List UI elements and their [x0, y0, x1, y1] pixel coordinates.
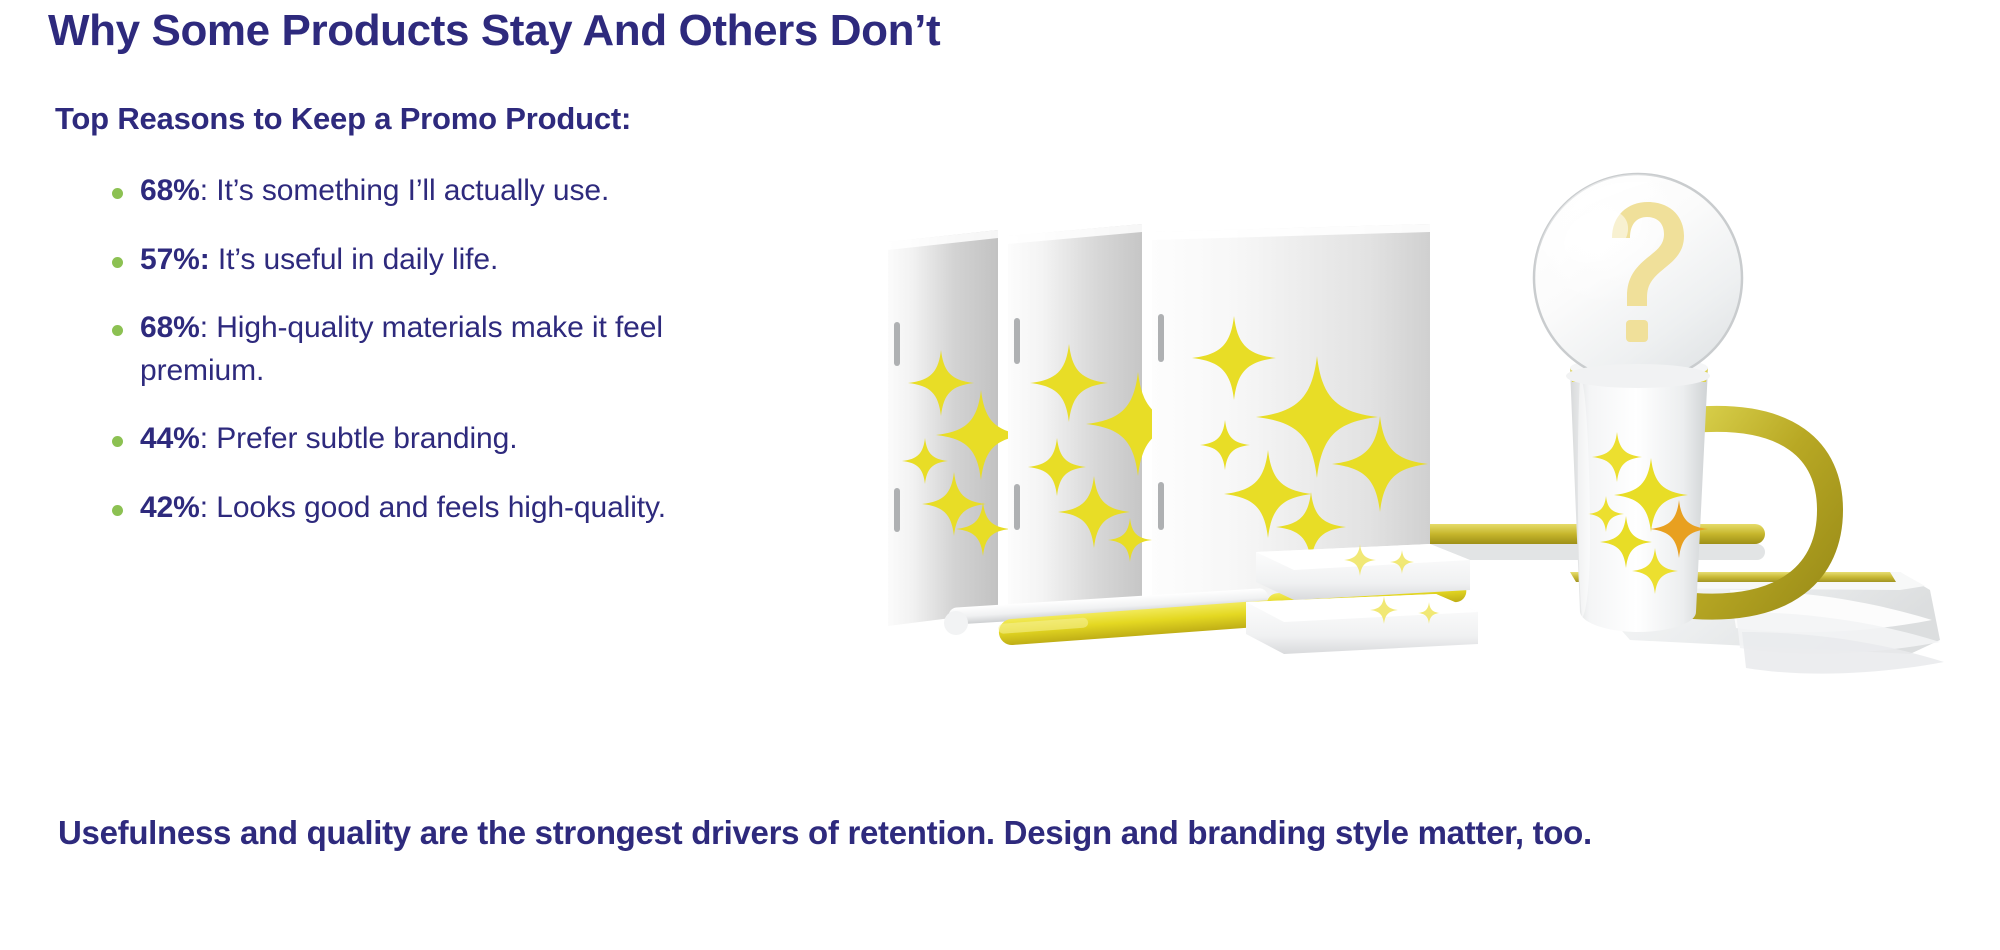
stat-percent: 44% — [140, 422, 200, 455]
stat-percent: 68% — [140, 174, 200, 207]
bullet-dot-icon — [112, 257, 123, 268]
stat-text: Looks good and feels high-quality. — [216, 491, 666, 524]
mug — [1570, 357, 1708, 632]
eraser-box-bottom — [1246, 594, 1478, 654]
stat-percent: 57%: — [140, 243, 210, 276]
stat-separator — [210, 243, 218, 276]
stat-text: Prefer subtle branding. — [216, 422, 517, 455]
list-item: 57%: It’s useful in daily life. — [108, 239, 708, 282]
section-subtitle: Top Reasons to Keep a Promo Product: — [55, 101, 631, 137]
glass-dome — [1534, 174, 1742, 388]
summary-text: Usefulness and quality are the strongest… — [58, 810, 1888, 857]
stat-text: It’s useful in daily life. — [218, 243, 498, 276]
bullet-dot-icon — [112, 188, 123, 199]
stat-percent: 42% — [140, 491, 200, 524]
bullet-dot-icon — [112, 325, 123, 336]
stat-separator: : — [200, 311, 216, 344]
list-item: 68%: High-quality materials make it feel… — [108, 307, 708, 392]
stat-text: It’s something I’ll actually use. — [216, 174, 609, 207]
reasons-list: 68%: It’s something I’ll actually use. 5… — [108, 170, 708, 556]
slide-canvas: Why Some Products Stay And Others Don’t … — [0, 0, 2000, 950]
bullet-dot-icon — [112, 505, 123, 516]
eraser-box-top — [1256, 544, 1470, 600]
page-title: Why Some Products Stay And Others Don’t — [48, 6, 940, 56]
list-item: 68%: It’s something I’ll actually use. — [108, 170, 708, 213]
promo-product-illustration — [870, 120, 1960, 730]
promo-product-photo — [870, 120, 1960, 730]
stat-separator: : — [200, 422, 216, 455]
list-item: 44%: Prefer subtle branding. — [108, 418, 708, 461]
stat-separator: : — [200, 491, 216, 524]
notebook-left — [888, 230, 1026, 626]
stat-text: High-quality materials make it feel prem… — [140, 311, 663, 387]
stat-separator: : — [200, 174, 216, 207]
stat-percent: 68% — [140, 311, 200, 344]
bullet-dot-icon — [112, 436, 123, 447]
list-item: 42%: Looks good and feels high-quality. — [108, 487, 708, 530]
